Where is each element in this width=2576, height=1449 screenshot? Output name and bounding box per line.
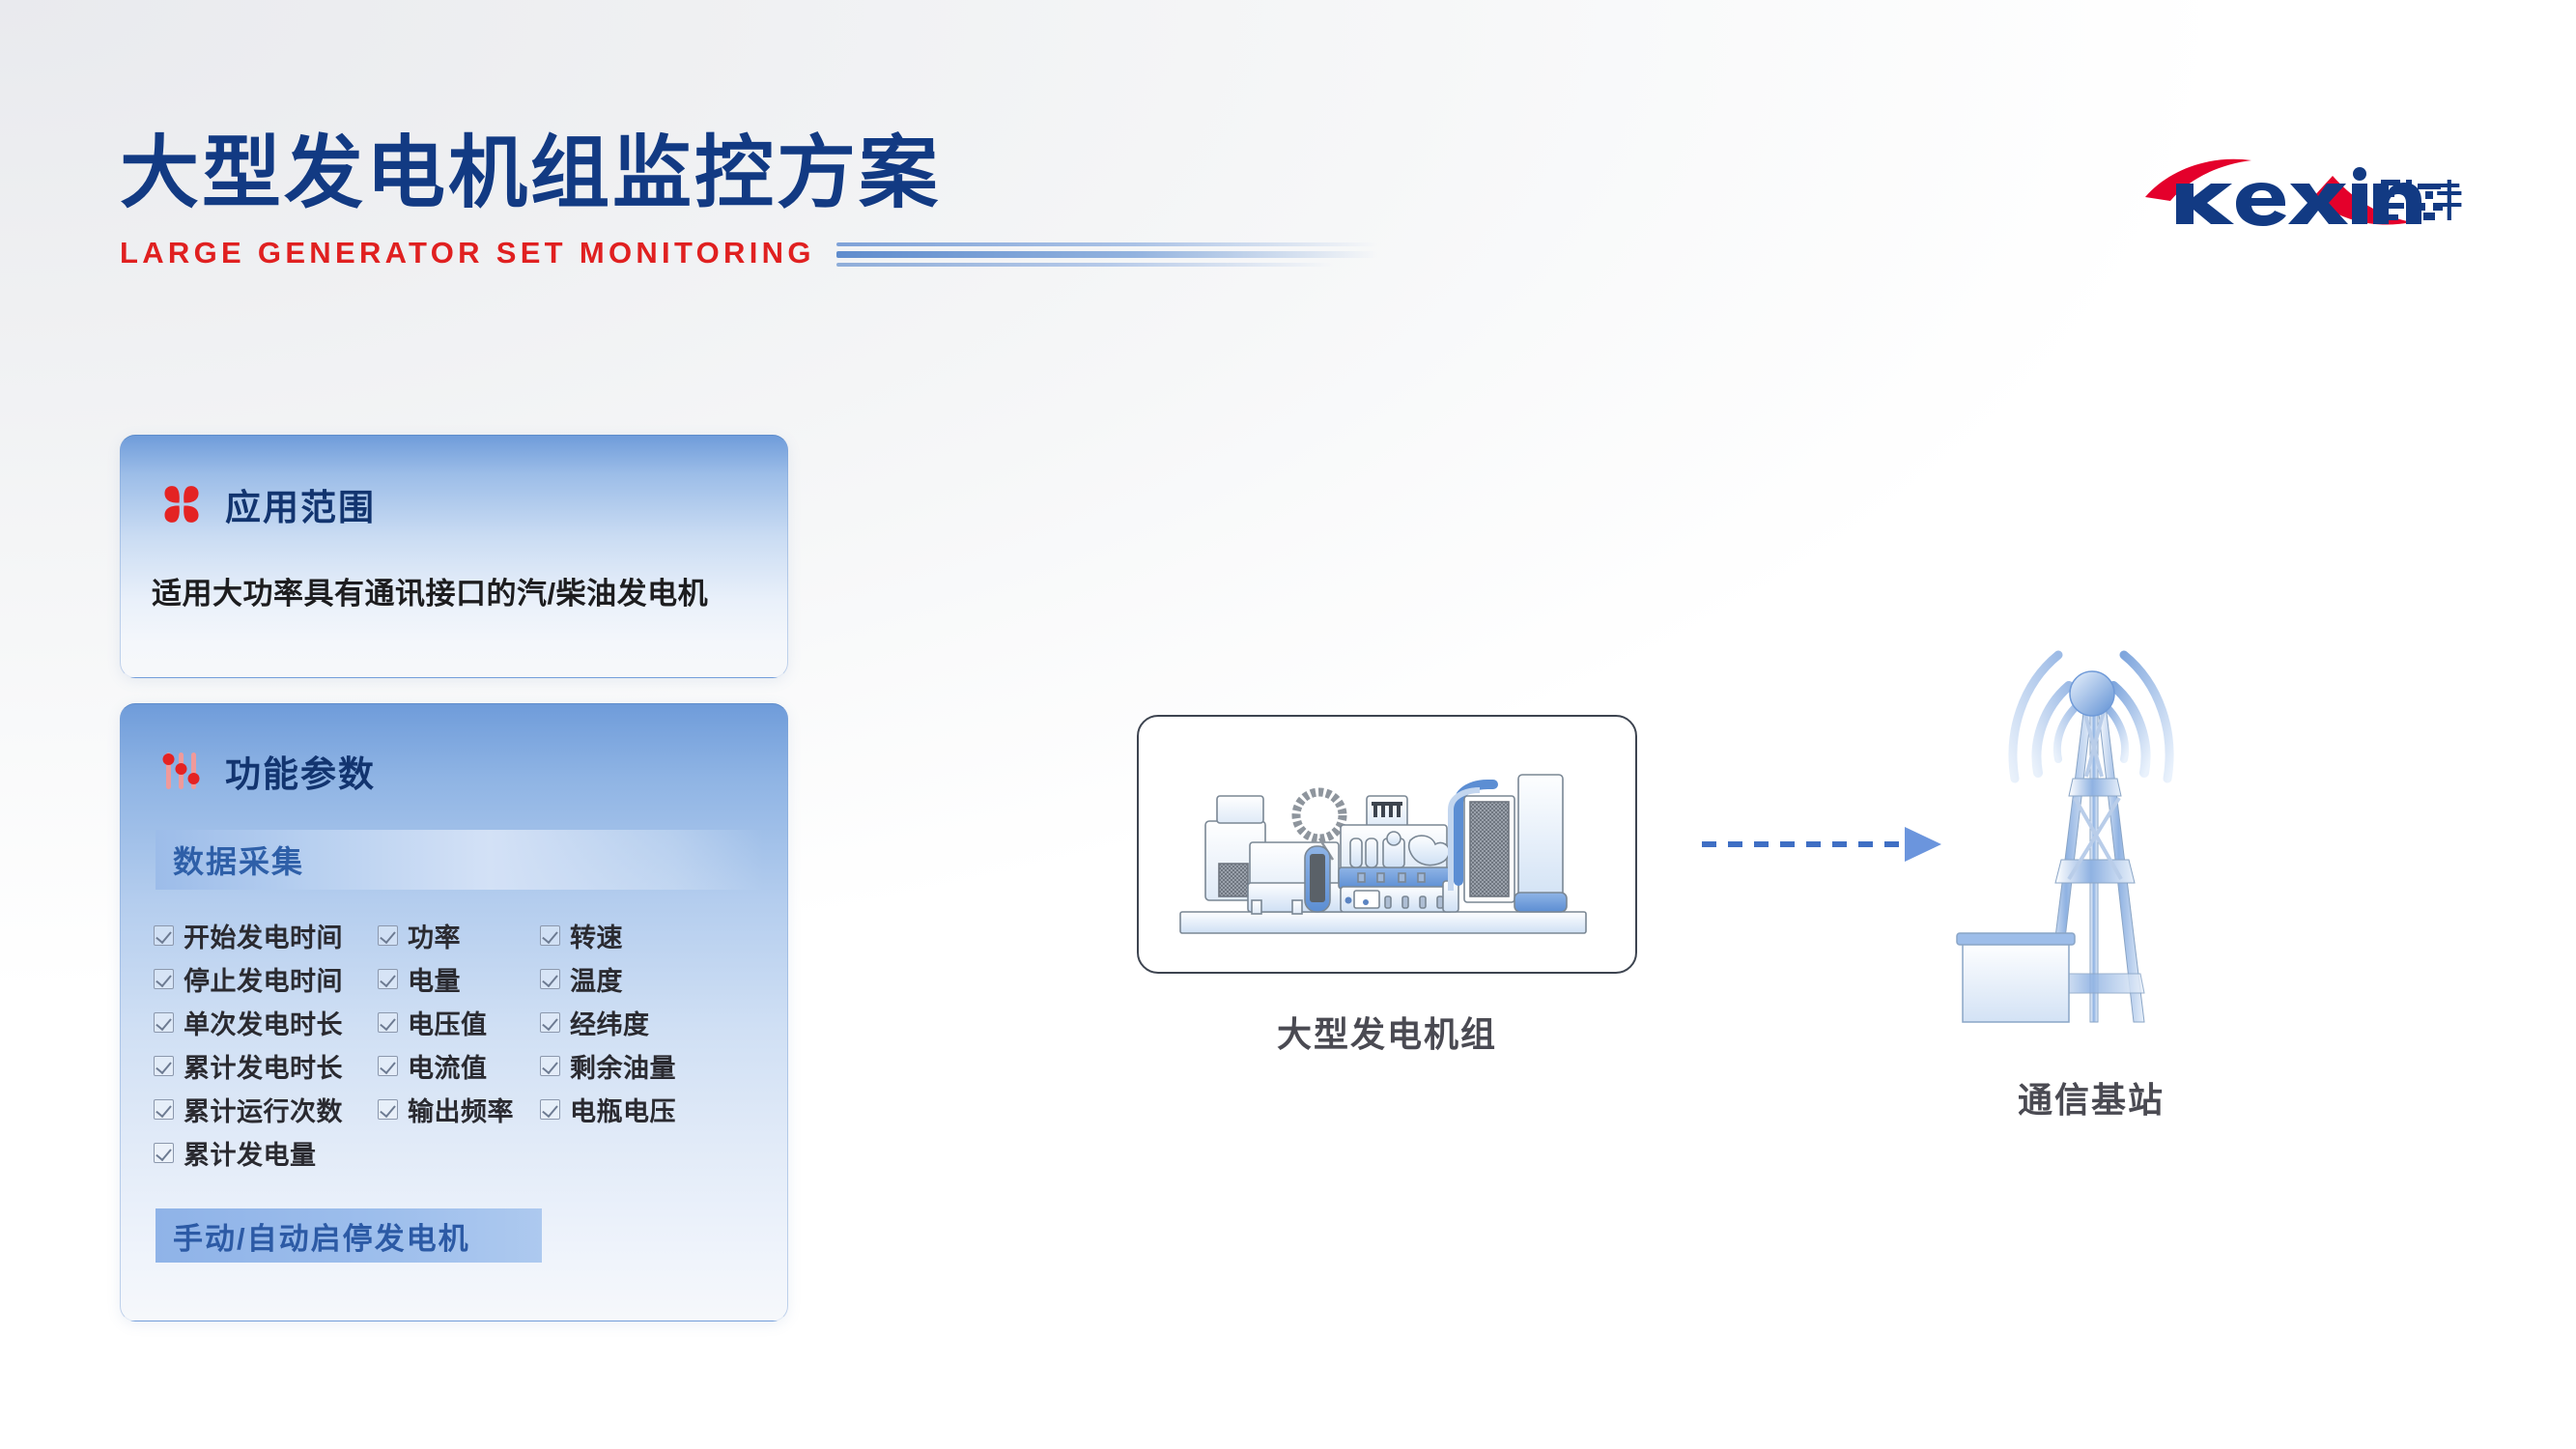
section-band-data-collection: 数据采集: [156, 830, 764, 890]
list-item-label: 剩余油量: [570, 1047, 676, 1085]
list-item-label: 输出频率: [408, 1091, 514, 1128]
list-item[interactable]: 经纬度: [540, 1004, 723, 1041]
list-item[interactable]: 累计发电时长: [154, 1047, 378, 1085]
list-item[interactable]: 输出频率: [378, 1091, 540, 1128]
list-item-label: 温度: [570, 960, 623, 998]
list-item-label: 累计发电量: [184, 1134, 317, 1172]
list-item[interactable]: 电量: [378, 960, 540, 998]
list-item[interactable]: 功率: [378, 917, 540, 954]
checkbox-icon[interactable]: [540, 1099, 560, 1120]
list-item-label: 电流值: [408, 1047, 488, 1085]
list-item-label: 电压值: [408, 1004, 488, 1041]
list-item-label: 单次发电时长: [184, 1004, 343, 1041]
checkbox-icon[interactable]: [378, 1099, 398, 1120]
section-band-manual-auto: 手动/自动启停发电机: [156, 1208, 542, 1263]
title-decor-lines: [836, 241, 1377, 267]
list-item[interactable]: 开始发电时间: [154, 917, 378, 954]
tower-caption: 通信基站: [1932, 1072, 2250, 1122]
list-item[interactable]: 停止发电时间: [154, 960, 378, 998]
diesel-generator-set-icon: [1169, 746, 1605, 944]
slide-header: 大型发电机组监控方案 LARGE GENERATOR SET MONITORIN…: [0, 0, 2576, 319]
dashed-right-arrow: [1698, 823, 1949, 866]
checkbox-icon[interactable]: [378, 1012, 398, 1033]
kexin-logo: [2143, 155, 2472, 238]
list-item-label: 累计运行次数: [184, 1091, 343, 1128]
slide-root: 大型发电机组监控方案 LARGE GENERATOR SET MONITORIN…: [0, 0, 2576, 1449]
list-item-label: 电瓶电压: [570, 1091, 676, 1128]
section-band-footer-label: 手动/自动启停发电机: [173, 1214, 470, 1258]
list-item-label: 开始发电时间: [184, 917, 343, 954]
list-item-label: 转速: [570, 917, 623, 954]
checkbox-icon[interactable]: [378, 925, 398, 946]
checkbox-icon[interactable]: [154, 1099, 174, 1120]
list-item[interactable]: 电压值: [378, 1004, 540, 1041]
list-item-label: 经纬度: [570, 1004, 650, 1041]
checkbox-icon[interactable]: [154, 1143, 174, 1163]
checkbox-icon[interactable]: [540, 925, 560, 946]
decor-line-1: [836, 242, 1377, 246]
card-application-scope: 应用范围 适用大功率具有通讯接口的汽/柴油发电机: [120, 435, 788, 678]
cell-tower-icon: [1955, 597, 2235, 1041]
list-item-empty: [378, 1134, 540, 1172]
card-scope-body: 适用大功率具有通讯接口的汽/柴油发电机: [121, 569, 787, 612]
checkbox-icon[interactable]: [154, 925, 174, 946]
list-item-empty: [540, 1134, 723, 1172]
list-item[interactable]: 累计发电量: [154, 1134, 378, 1172]
checkbox-icon[interactable]: [378, 1056, 398, 1076]
list-item[interactable]: 温度: [540, 960, 723, 998]
equalizer-sliders-icon: [159, 749, 204, 793]
page-title: 大型发电机组监控方案: [120, 128, 1472, 220]
list-item[interactable]: 剩余油量: [540, 1047, 723, 1085]
list-item[interactable]: 单次发电时长: [154, 1004, 378, 1041]
list-item-label: 累计发电时长: [184, 1047, 343, 1085]
list-item-label: 电量: [408, 960, 461, 998]
checkbox-icon[interactable]: [378, 969, 398, 989]
checkbox-icon[interactable]: [540, 1056, 560, 1076]
list-item[interactable]: 转速: [540, 917, 723, 954]
list-item[interactable]: 电流值: [378, 1047, 540, 1085]
list-item[interactable]: 累计运行次数: [154, 1091, 378, 1128]
subtitle-row: LARGE GENERATOR SET MONITORING: [120, 236, 1472, 270]
title-block: 大型发电机组监控方案 LARGE GENERATOR SET MONITORIN…: [120, 128, 1472, 270]
list-item[interactable]: 电瓶电压: [540, 1091, 723, 1128]
card-scope-title: 应用范围: [225, 478, 376, 530]
card-scope-header: 应用范围: [121, 436, 787, 530]
card-params-title: 功能参数: [225, 745, 376, 797]
checkbox-icon[interactable]: [540, 1012, 560, 1033]
four-petal-flower-icon: [159, 482, 204, 526]
checkbox-icon[interactable]: [154, 1056, 174, 1076]
decor-line-3: [836, 263, 1334, 267]
generator-image-card: [1137, 715, 1637, 974]
decor-line-2: [836, 251, 1377, 258]
section-band-label: 数据采集: [173, 838, 304, 882]
card-function-parameters: 功能参数 数据采集 开始发电时间 功率 转速 停止发电时间 电量 温度 单次发电…: [120, 703, 788, 1321]
generator-caption: 大型发电机组: [1137, 1007, 1637, 1057]
list-item-label: 停止发电时间: [184, 960, 343, 998]
data-collection-checklist: 开始发电时间 功率 转速 停止发电时间 电量 温度 单次发电时长 电压值 经纬度…: [154, 917, 752, 1172]
checkbox-icon[interactable]: [154, 1012, 174, 1033]
list-item-label: 功率: [408, 917, 461, 954]
checkbox-icon[interactable]: [540, 969, 560, 989]
page-subtitle: LARGE GENERATOR SET MONITORING: [120, 236, 815, 270]
checkbox-icon[interactable]: [154, 969, 174, 989]
card-params-header: 功能参数: [121, 704, 787, 797]
